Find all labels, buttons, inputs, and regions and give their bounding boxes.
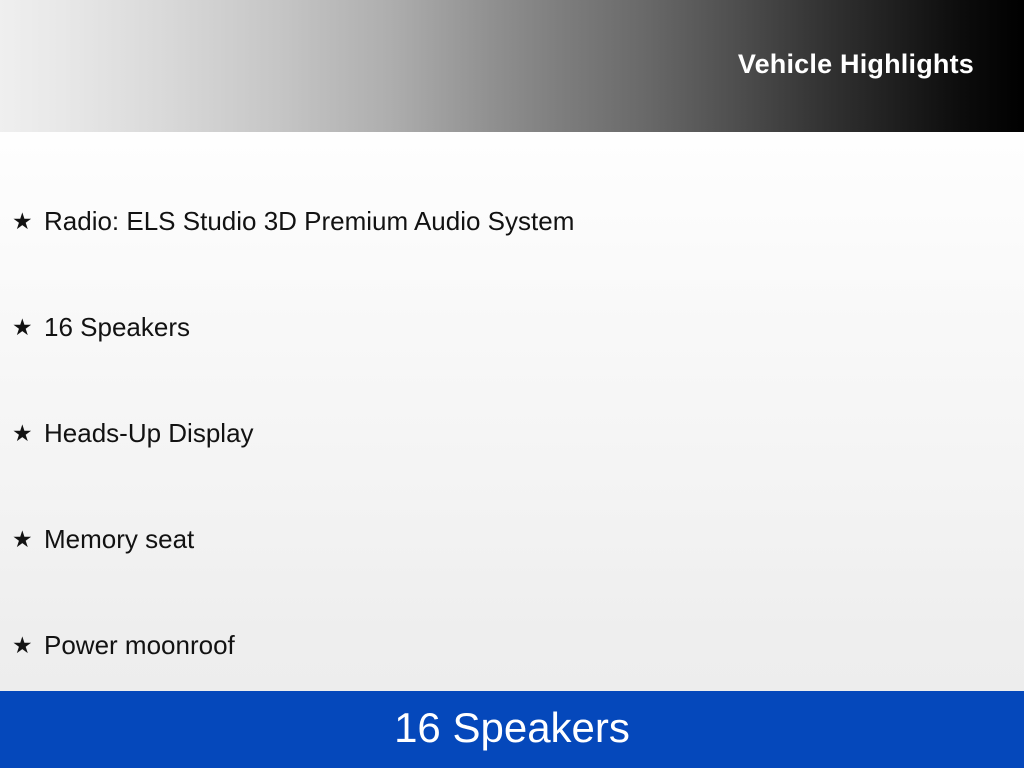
highlights-content-area: ★ Radio: ELS Studio 3D Premium Audio Sys… bbox=[0, 132, 1024, 691]
star-bullet-icon: ★ bbox=[12, 528, 44, 551]
list-item: ★ 16 Speakers bbox=[0, 274, 1024, 380]
list-item-label: 16 Speakers bbox=[44, 313, 190, 342]
footer-caption: 16 Speakers bbox=[394, 707, 630, 753]
list-item: ★ Radio: ELS Studio 3D Premium Audio Sys… bbox=[0, 168, 1024, 274]
list-item: ★ Power moonroof bbox=[0, 592, 1024, 698]
list-item: ★ Heads-Up Display bbox=[0, 380, 1024, 486]
list-item: ★ Memory seat bbox=[0, 486, 1024, 592]
list-item-label: Power moonroof bbox=[44, 631, 235, 660]
star-bullet-icon: ★ bbox=[12, 210, 44, 233]
page-title: Vehicle Highlights bbox=[738, 51, 1024, 82]
star-bullet-icon: ★ bbox=[12, 316, 44, 339]
vehicle-highlights-list: ★ Radio: ELS Studio 3D Premium Audio Sys… bbox=[0, 168, 1024, 698]
vehicle-highlights-slide: Vehicle Highlights ★ Radio: ELS Studio 3… bbox=[0, 0, 1024, 768]
list-item-label: Radio: ELS Studio 3D Premium Audio Syste… bbox=[44, 207, 574, 236]
star-bullet-icon: ★ bbox=[12, 634, 44, 657]
footer-caption-bar: 16 Speakers bbox=[0, 691, 1024, 768]
header-banner: Vehicle Highlights bbox=[0, 0, 1024, 132]
list-item-label: Memory seat bbox=[44, 525, 194, 554]
list-item-label: Heads-Up Display bbox=[44, 419, 254, 448]
star-bullet-icon: ★ bbox=[12, 422, 44, 445]
